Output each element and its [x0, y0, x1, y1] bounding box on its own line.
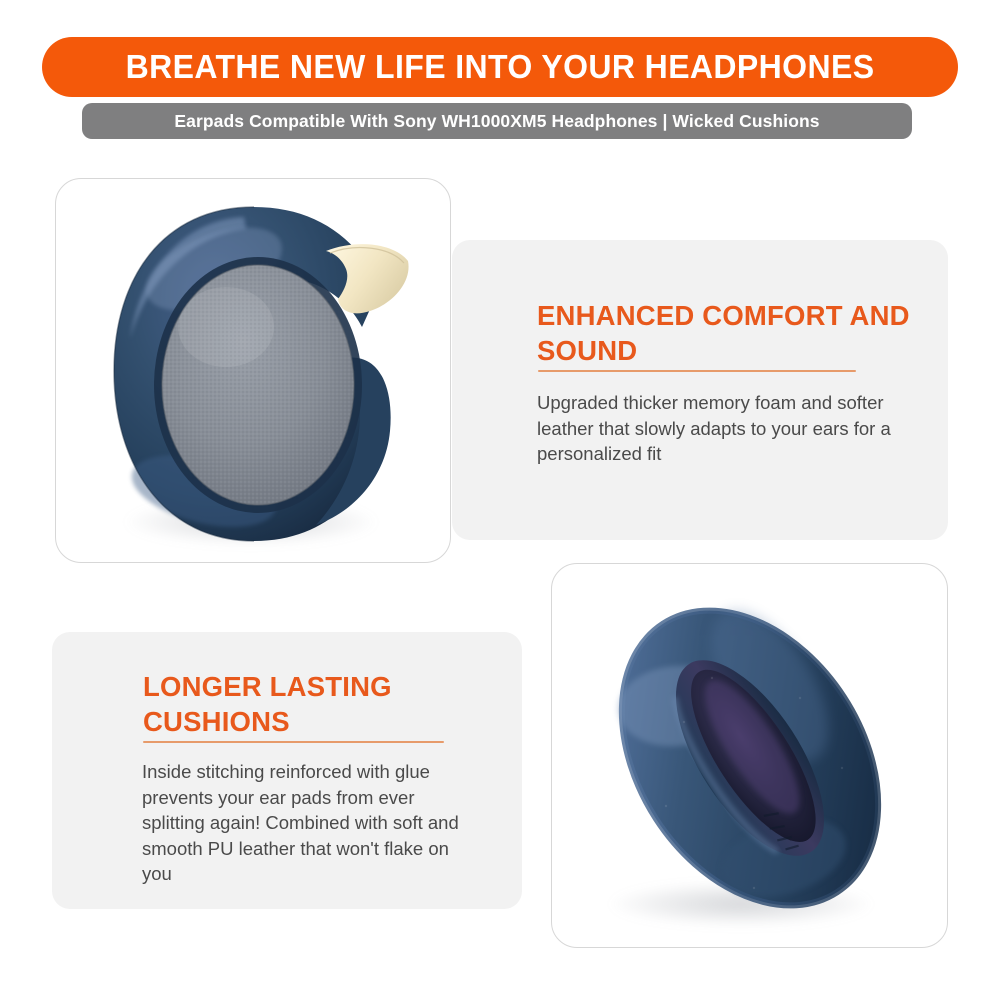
feature-title-1: ENHANCED COMFORT AND SOUND: [537, 298, 917, 368]
subtitle-banner: Earpads Compatible With Sony WH1000XM5 H…: [82, 103, 912, 139]
feature-divider-1: [538, 370, 856, 372]
infographic-page: BREATHE NEW LIFE INTO YOUR HEADPHONES Ea…: [0, 0, 1000, 1000]
earpad-front-svg: [94, 199, 412, 549]
earpad-angled-svg: [574, 582, 926, 932]
feature-body-1: Upgraded thicker memory foam and softer …: [537, 390, 927, 467]
feature-title-2: LONGER LASTING CUSHIONS: [143, 669, 503, 739]
feature-divider-2: [143, 741, 444, 743]
subtitle-text: Earpads Compatible With Sony WH1000XM5 H…: [174, 111, 819, 132]
earpad-angled-illustration: [552, 564, 947, 947]
product-image-card-2: [551, 563, 948, 948]
product-image-card-1: [55, 178, 451, 563]
headline-text: BREATHE NEW LIFE INTO YOUR HEADPHONES: [126, 48, 875, 86]
headline-banner: BREATHE NEW LIFE INTO YOUR HEADPHONES: [42, 37, 958, 97]
earpad-front-illustration: [56, 179, 450, 562]
feature-body-2: Inside stitching reinforced with glue pr…: [142, 759, 472, 887]
